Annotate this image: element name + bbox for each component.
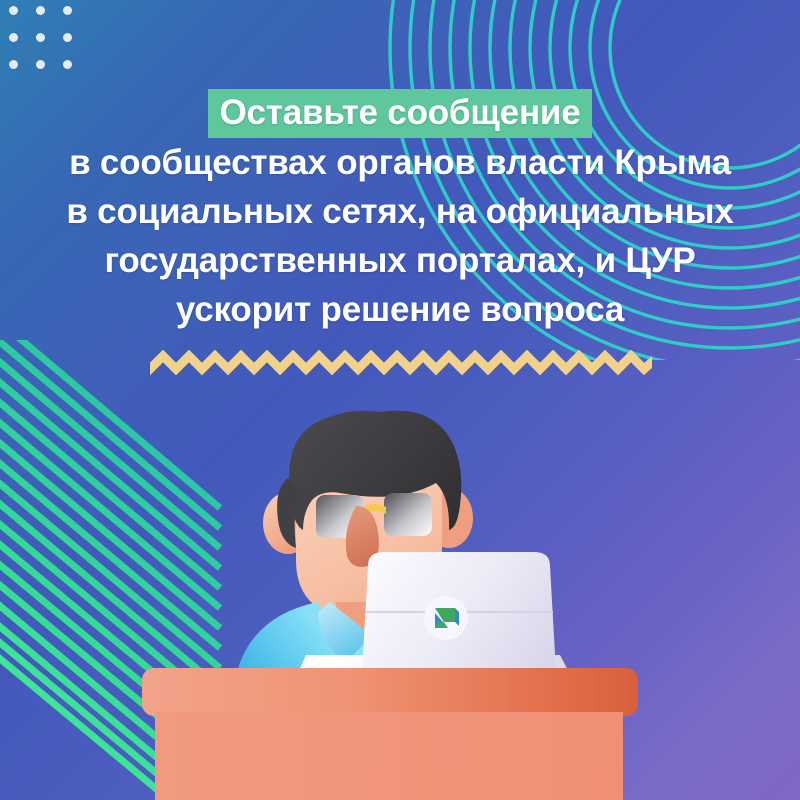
illustration-man-at-laptop [0, 0, 800, 800]
poster-canvas: Оставьте сообщение в сообществах органов… [0, 0, 800, 800]
